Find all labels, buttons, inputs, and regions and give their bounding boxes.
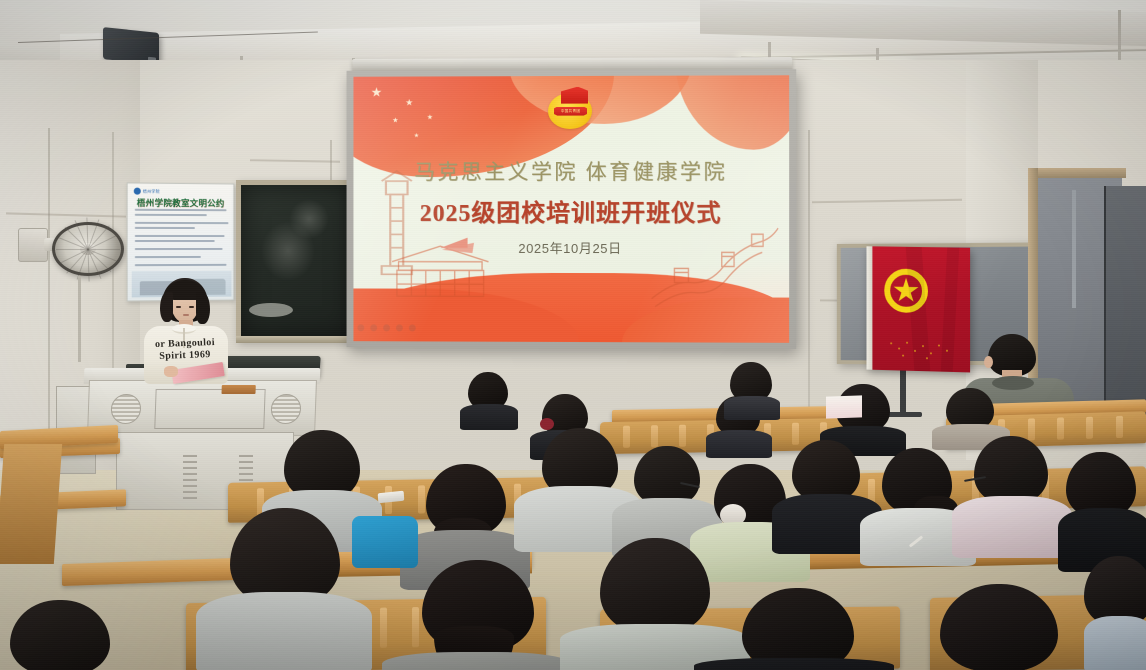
student-front-7 <box>0 588 130 670</box>
poster-line-5 <box>135 235 225 237</box>
door-panel <box>1104 186 1146 426</box>
wall-fan <box>52 222 124 276</box>
student-torso <box>952 496 1072 558</box>
poster-line-2 <box>135 214 207 216</box>
chalk-smudge-3 <box>249 303 293 317</box>
student-torso <box>382 652 572 670</box>
emblem-flag <box>561 87 588 104</box>
student-front-6 <box>1084 556 1146 670</box>
light-mount-right-3 <box>1118 10 1121 60</box>
poster-line-1 <box>135 209 227 211</box>
speaker-hair-left <box>160 292 173 322</box>
classroom-photo-scene: EPOCH 18:03 梧州学院 <box>0 0 1146 670</box>
poster-logo: 梧州学院 <box>134 188 164 195</box>
speaker-mouth <box>183 314 189 316</box>
speaker-hand <box>164 366 178 377</box>
student-back-1 <box>460 372 518 428</box>
flag-texture-dots <box>886 338 956 362</box>
slide-star-2: ★ <box>405 98 413 109</box>
podium-speaker-right <box>270 394 301 424</box>
paper-sheet-desk <box>826 395 862 418</box>
poster-line-3 <box>135 222 229 224</box>
student-mid-9 <box>1058 452 1146 570</box>
slide-heading: 马克思主义学院 体育健康学院 <box>353 156 789 186</box>
speaker-eye-right <box>189 306 194 308</box>
poster-org-label: 梧州学院 <box>143 188 160 194</box>
student-head <box>10 600 110 670</box>
student-mid-8 <box>952 436 1072 556</box>
student-front-2 <box>382 560 572 670</box>
student-head <box>792 440 860 502</box>
speaker-person: or Bangouloi Spirit 1969 <box>138 278 232 384</box>
student-torso <box>196 592 372 670</box>
wall-seam-4 <box>808 130 810 410</box>
podium-vent-1 <box>183 455 197 499</box>
desk-left-isolated-1-side <box>0 444 62 564</box>
seated-adult-ear <box>984 356 993 368</box>
student-back-4 <box>724 362 780 414</box>
fan-conduit <box>78 276 81 362</box>
student-torso <box>1084 616 1146 670</box>
corridor-pipe <box>1072 190 1076 308</box>
poster-line-6 <box>135 240 215 242</box>
slide-tiananmen-lineart <box>384 235 496 304</box>
taskbar-dot-5 <box>409 325 416 332</box>
speaker-eye-left <box>176 306 181 308</box>
poster-line-8 <box>135 256 201 258</box>
student-head <box>940 584 1058 670</box>
multimedia-podium <box>87 380 317 436</box>
presentation-slide: ★ ★ ★ ★ ★ <box>353 75 789 343</box>
student-front-1 <box>196 508 372 670</box>
student-head <box>974 436 1048 504</box>
projection-screen: ★ ★ ★ ★ ★ <box>347 57 797 349</box>
student-front-5 <box>898 584 1098 670</box>
podium-label <box>221 385 255 394</box>
student-torso <box>724 396 780 420</box>
speaker-hair-right <box>196 292 210 324</box>
poster-line-9 <box>135 264 227 266</box>
blue-bag <box>352 516 418 568</box>
podium-front-panel <box>154 389 265 429</box>
slide-star-5: ★ <box>414 132 419 139</box>
poster-line-7 <box>135 248 223 250</box>
taskbar-dot-1 <box>357 324 364 331</box>
student-torso <box>460 404 518 430</box>
slide-taskbar <box>353 320 465 336</box>
slide-greatwall-lineart <box>649 220 781 311</box>
screen-surface-frame: ★ ★ ★ ★ ★ <box>347 69 797 349</box>
taskbar-dot-2 <box>370 325 377 332</box>
fan-grille <box>56 226 120 272</box>
slide-wave-right <box>675 75 789 150</box>
chalk-tray <box>236 336 358 343</box>
student-front-4 <box>694 588 894 670</box>
poster-line-4 <box>135 227 195 229</box>
emblem-banner: 中国共青团 <box>554 107 587 116</box>
taskbar-dot-3 <box>383 325 390 332</box>
taskbar-dot-4 <box>396 325 403 332</box>
emblem-banner-text: 中国共青团 <box>554 107 587 116</box>
chalkboard <box>236 180 358 342</box>
podium-speaker-left <box>110 394 141 424</box>
wall-seam-1 <box>48 128 50 458</box>
communist-youth-league-emblem: 中国共青团 <box>548 87 592 129</box>
communist-youth-league-flag <box>866 246 970 372</box>
poster-logo-mark <box>134 188 141 195</box>
door-frame-top <box>1028 168 1126 178</box>
chalk-smudge-2 <box>289 199 329 239</box>
poster-title: 梧州学院教室文明公约 <box>128 197 234 210</box>
slide-star-1: ★ <box>371 85 383 101</box>
student-torso <box>694 658 894 670</box>
slide-star-3: ★ <box>392 116 398 124</box>
slide-star-4: ★ <box>427 114 433 122</box>
